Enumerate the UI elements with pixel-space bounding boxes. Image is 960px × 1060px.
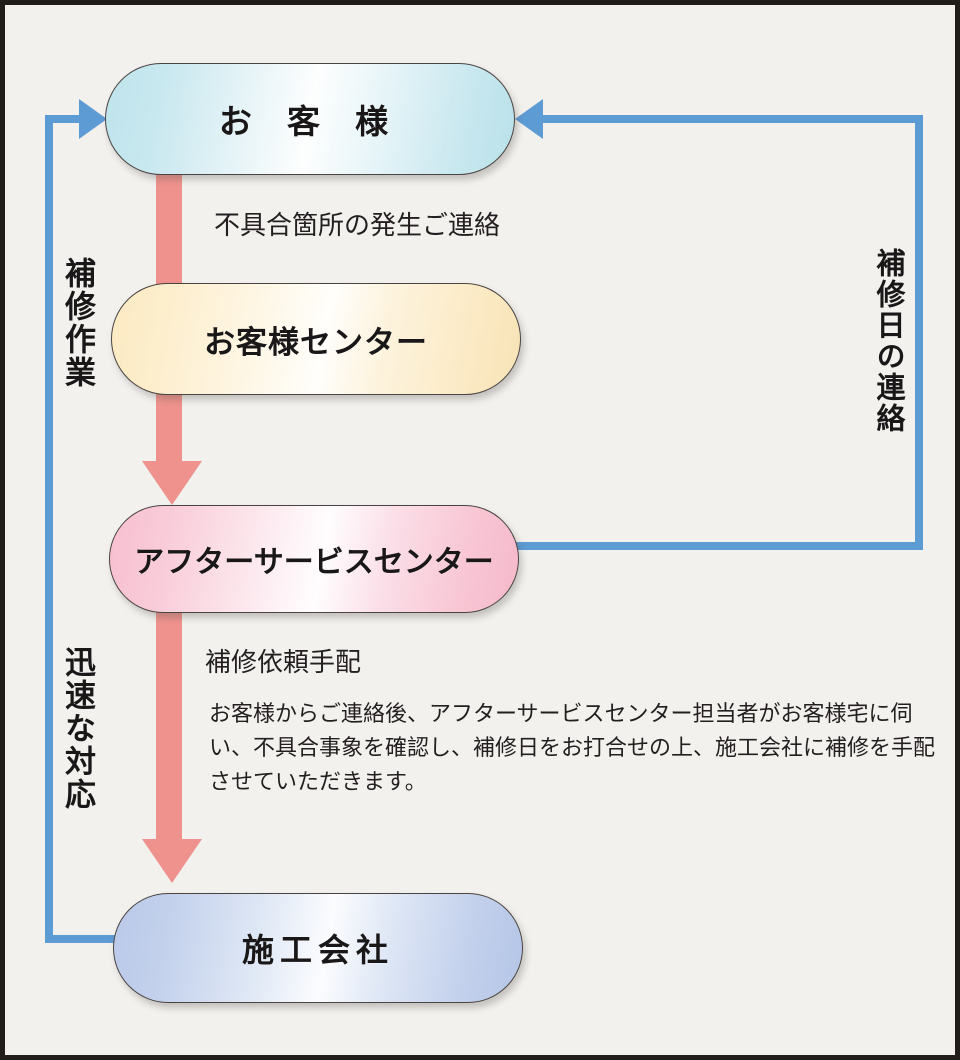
arrow-after-to-builder-head (142, 839, 202, 883)
node-customer-center[interactable]: お客様センター (111, 283, 521, 395)
left-loop-arrow-head-icon (79, 99, 107, 139)
vertical-label-repair-work: 補修作業 (55, 257, 100, 389)
arrow-center-to-after-head (142, 461, 202, 505)
node-after-service-center-label: アフターサービスセンター (134, 537, 493, 581)
node-customer-label: お 客 様 (219, 95, 401, 143)
arrow-after-to-builder-shaft (156, 605, 182, 843)
right-loop-top-segment (543, 115, 923, 123)
arrow-customer-to-center-shaft (156, 165, 182, 295)
right-loop-bottom-segment (513, 542, 923, 550)
node-customer-center-label: お客様センター (204, 317, 428, 362)
right-loop-arrow-head-icon (515, 99, 543, 139)
vertical-label-quick-response: 迅速な対応 (55, 646, 100, 811)
node-builder[interactable]: 施工会社 (113, 893, 523, 1003)
node-customer[interactable]: お 客 様 (105, 63, 515, 175)
arrow-center-to-after-shaft (156, 387, 182, 465)
vertical-label-repair-date-contact: 補修日の連絡 (867, 248, 909, 434)
node-after-service-center[interactable]: アフターサービスセンター (109, 505, 519, 613)
node-builder-label: 施工会社 (242, 925, 394, 971)
flow-label-report: 不具合箇所の発生ご連絡 (214, 205, 500, 242)
flowchart-canvas: お 客 様 お客様センター アフターサービスセンター 施工会社 不具合箇所の発生… (0, 0, 960, 1060)
body-description-text: お客様からご連絡後、アフターサービスセンター担当者がお客様宅に伺い、不具合事象を… (209, 697, 947, 799)
flow-label-repair-request: 補修依頼手配 (205, 642, 361, 679)
left-loop-vertical-segment (45, 115, 53, 943)
right-loop-vertical-segment (915, 115, 923, 550)
